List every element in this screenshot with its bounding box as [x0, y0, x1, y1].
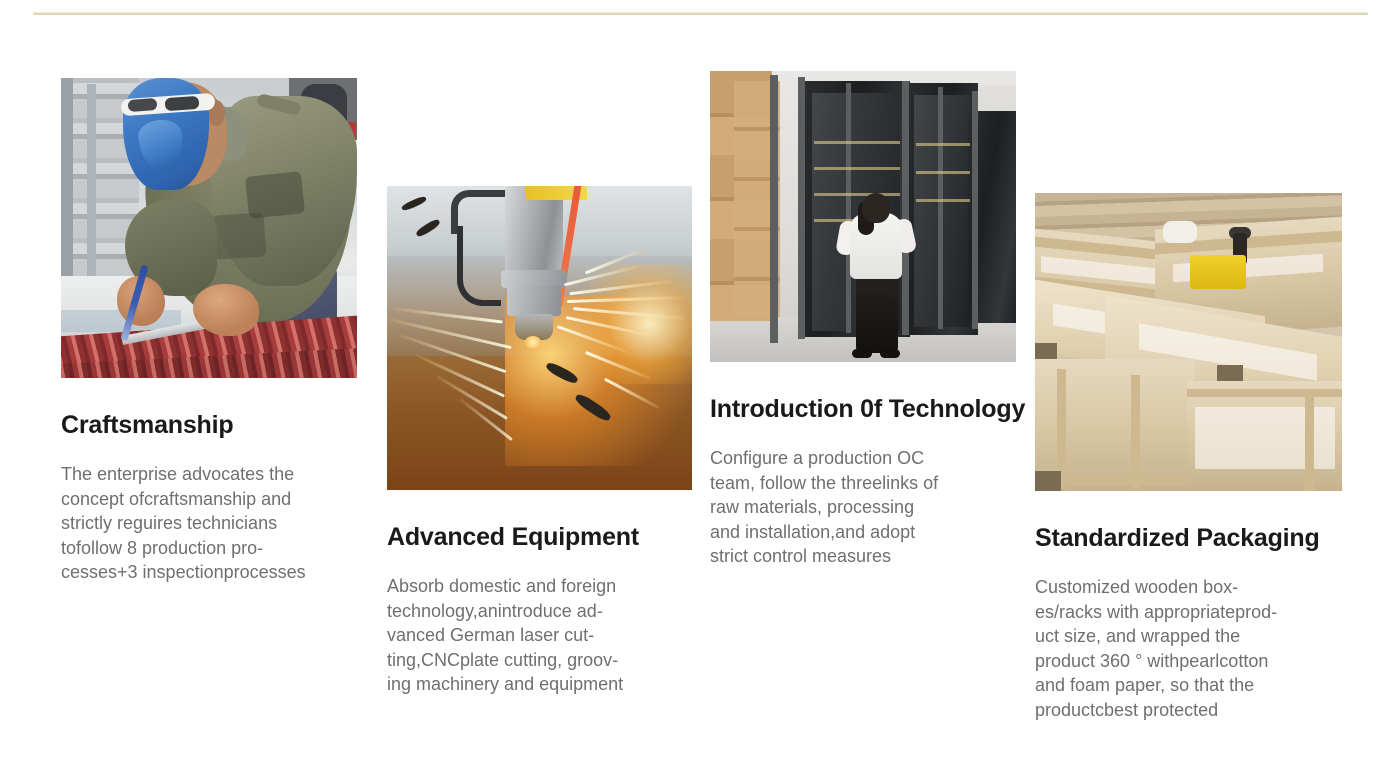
card-title-introduction-of-technology: Introduction 0f Technology — [710, 395, 1020, 424]
card-title-craftsmanship: Craftsmanship — [61, 411, 361, 440]
technician-shoe-right — [880, 349, 900, 358]
yellow-power-tool — [1190, 255, 1246, 289]
door-frame-post — [972, 91, 978, 329]
door-frame-post — [770, 75, 778, 343]
interior-shelf — [916, 143, 970, 146]
card-body-advanced-equipment: Absorb domestic and foreign technology,a… — [387, 574, 687, 697]
interior-shelf — [814, 167, 900, 170]
interior-shelf — [814, 141, 900, 144]
technician-legs — [856, 275, 898, 353]
interior-shelf — [916, 171, 970, 174]
card-body-craftsmanship: The enterprise advocates the concept ofc… — [61, 462, 353, 585]
door-frame-mullion — [938, 87, 943, 329]
worker-jacket-pocket-upper — [245, 171, 305, 219]
feature-card-introduction-of-technology: Introduction 0f Technology Configure a p… — [710, 71, 1020, 569]
crate-stile — [1305, 389, 1314, 491]
laser-beam-tip — [525, 336, 541, 348]
top-divider-rule — [33, 12, 1368, 15]
goggle-lens-right — [165, 96, 200, 111]
technician-head — [862, 193, 890, 223]
interior-shelf — [814, 193, 900, 196]
crate-corner-bracket — [1035, 471, 1061, 491]
feature-card-craftsmanship: Craftsmanship The enterprise advocates t… — [61, 78, 361, 585]
door-frame-mullion — [846, 83, 851, 333]
advanced-equipment-photo — [387, 186, 692, 490]
technician-shoe-left — [852, 349, 872, 358]
standardized-packaging-photo — [1035, 193, 1342, 491]
card-body-introduction-of-technology: Configure a production OC team, follow t… — [710, 446, 1010, 569]
feature-grid-page: Craftsmanship The enterprise advocates t… — [0, 0, 1394, 759]
laser-head-ring-lower — [507, 286, 561, 316]
white-wrapped-bundle — [1163, 221, 1197, 243]
feature-card-advanced-equipment: Advanced Equipment Absorb domestic and f… — [387, 186, 697, 697]
photo-background-post-2 — [87, 84, 96, 280]
black-cable-lower — [457, 226, 501, 306]
door-frame-post — [798, 77, 805, 339]
door-frame-post — [902, 81, 909, 335]
crate-rail — [1187, 389, 1342, 397]
card-body-standardized-packaging: Customized wooden box- es/racks with app… — [1035, 575, 1340, 722]
crate-stile — [1131, 375, 1140, 489]
crate-front-panel — [1195, 407, 1335, 469]
craftsmanship-photo — [61, 78, 357, 378]
introduction-of-technology-photo — [710, 71, 1016, 362]
goggle-lens-left — [128, 98, 158, 112]
card-title-advanced-equipment: Advanced Equipment — [387, 523, 697, 552]
feature-card-standardized-packaging: Standardized Packaging Customized wooden… — [1035, 193, 1345, 722]
worker-jacket-pocket-lower — [212, 212, 267, 260]
card-title-standardized-packaging: Standardized Packaging — [1035, 524, 1345, 553]
interior-shelf — [916, 199, 970, 202]
